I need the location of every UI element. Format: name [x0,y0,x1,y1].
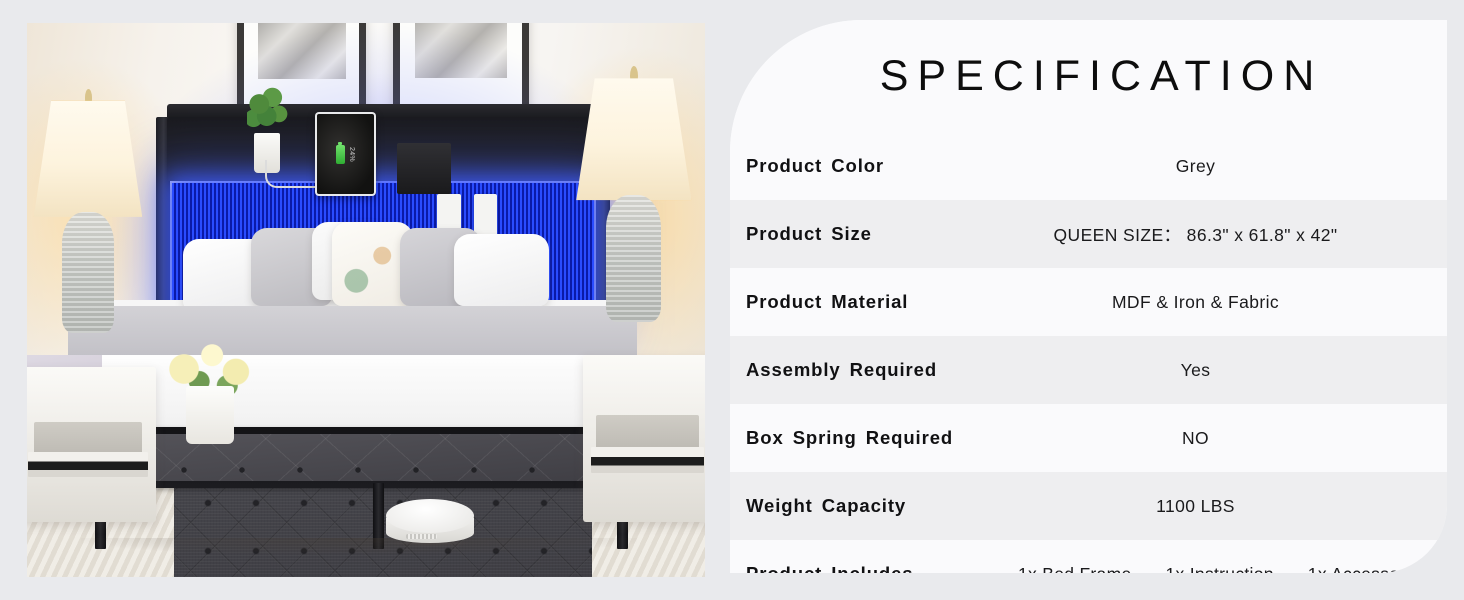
lamp-base-right [606,195,661,322]
photo-scene: 24% [27,23,705,577]
specification-title: SPECIFICATION [730,20,1447,132]
charging-cable [265,160,322,187]
lamp-shade-right [576,78,691,200]
table-lamp-right [576,78,691,322]
spec-row-assembly-required: Assembly Required Yes [730,336,1447,404]
spec-label: Product Size [746,223,1018,245]
spec-row-product-color: Product Color Grey [730,132,1447,200]
under-bed-shadow [81,538,637,555]
spec-row-product-includes: Product Includes 1x Bed Frame 1x Instruc… [730,540,1447,573]
spec-value: Grey [1018,156,1447,177]
headboard-shelf [167,117,599,181]
tablet-screen: 24% [317,114,374,194]
nightstand-left-books [28,452,147,477]
spec-value: NO [1018,428,1447,449]
spec-row-product-size: Product Size QUEEN SIZE： 86.3" x 61.8" x… [730,200,1447,268]
potted-plant [247,82,288,174]
charging-tablet: 24% [315,112,376,196]
plant-leaves [247,82,288,137]
pillow-white-right [454,234,549,306]
includes-list: 1x Bed Frame 1x Instruction 1x Accessory… [1018,564,1447,574]
product-photo: 24% [27,23,705,577]
specification-panel: SPECIFICATION Product Color Grey Product… [730,20,1447,573]
spec-value: QUEEN SIZE： 86.3" x 61.8" x 42" [1018,222,1447,247]
spec-label: Assembly Required [746,359,1018,381]
vase [186,386,234,444]
spec-label: Box Spring Required [746,427,1018,449]
spec-value: Yes [1018,360,1447,381]
includes-item: 1x Accessory bag [1308,564,1447,574]
spec-row-product-material: Product Material MDF & Iron & Fabric [730,268,1447,336]
product-spec-page: 24% [0,0,1464,600]
robot-vacuum-vent [406,534,438,539]
spec-value: 1100 LBS [1018,496,1447,517]
lamp-shade-left [34,101,142,217]
spec-row-weight-capacity: Weight Capacity 1100 LBS [730,472,1447,540]
nightstand-right [583,355,705,521]
shelf-black-box [397,143,452,194]
specification-table: Product Color Grey Product Size QUEEN SI… [730,132,1447,573]
nightstand-left [27,367,156,522]
spec-label: Weight Capacity [746,495,1018,517]
flower-vase [156,333,264,444]
nightstand-right-books [591,447,704,474]
spec-label: Product Color [746,155,1018,177]
spec-label: Product Includes [746,563,1018,573]
includes-item: 1x Instruction [1166,564,1274,574]
table-lamp-left [34,101,142,334]
spec-value-includes: 1x Bed Frame 1x Instruction 1x Accessory… [1018,564,1447,574]
includes-item: 1x Bed Frame [1018,564,1132,574]
battery-percent-label: 24% [348,147,355,162]
robot-vacuum [386,499,474,546]
battery-icon [336,145,345,164]
spec-row-box-spring-required: Box Spring Required NO [730,404,1447,472]
spec-label: Product Material [746,291,1018,313]
spec-value: MDF & Iron & Fabric [1018,292,1447,313]
lamp-base-left [62,212,114,333]
